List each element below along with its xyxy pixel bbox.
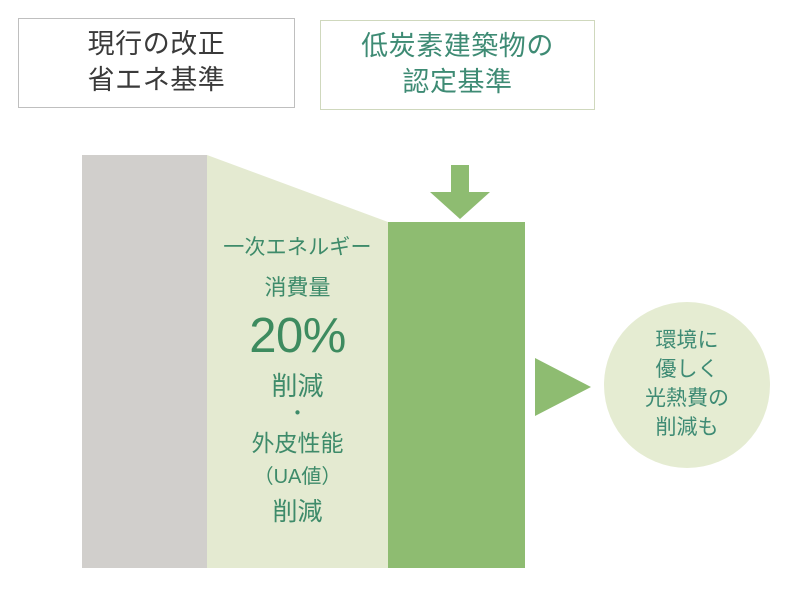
benefit-callout-circle: 環境に 優しく 光熱費の 削減も xyxy=(604,302,770,468)
diagram-canvas: 現行の改正 省エネ基準 低炭素建築物の 認定基準 一次エネルギー 消費量 20%… xyxy=(0,0,788,591)
callout-line-4: 削減も xyxy=(656,414,719,443)
title-box-lowcarbon-line-1: 低炭素建築物の xyxy=(361,29,554,65)
bar-current-baseline xyxy=(82,155,207,568)
title-box-lowcarbon-line-2: 認定基準 xyxy=(402,65,512,101)
bar-reduction-slope xyxy=(207,155,388,568)
bar-low-carbon xyxy=(388,222,525,568)
title-box-low-carbon-standard: 低炭素建築物の 認定基準 xyxy=(320,20,595,110)
right-triangle-arrow-icon xyxy=(535,358,591,416)
title-box-current-standard: 現行の改正 省エネ基準 xyxy=(18,18,295,108)
callout-line-3: 光熱費の xyxy=(645,385,729,414)
down-arrow-icon xyxy=(430,165,490,219)
callout-line-2: 優しく xyxy=(656,356,719,385)
callout-line-1: 環境に xyxy=(656,327,719,356)
title-box-current-line-1: 現行の改正 xyxy=(88,27,226,63)
title-box-current-line-2: 省エネ基準 xyxy=(88,63,226,99)
